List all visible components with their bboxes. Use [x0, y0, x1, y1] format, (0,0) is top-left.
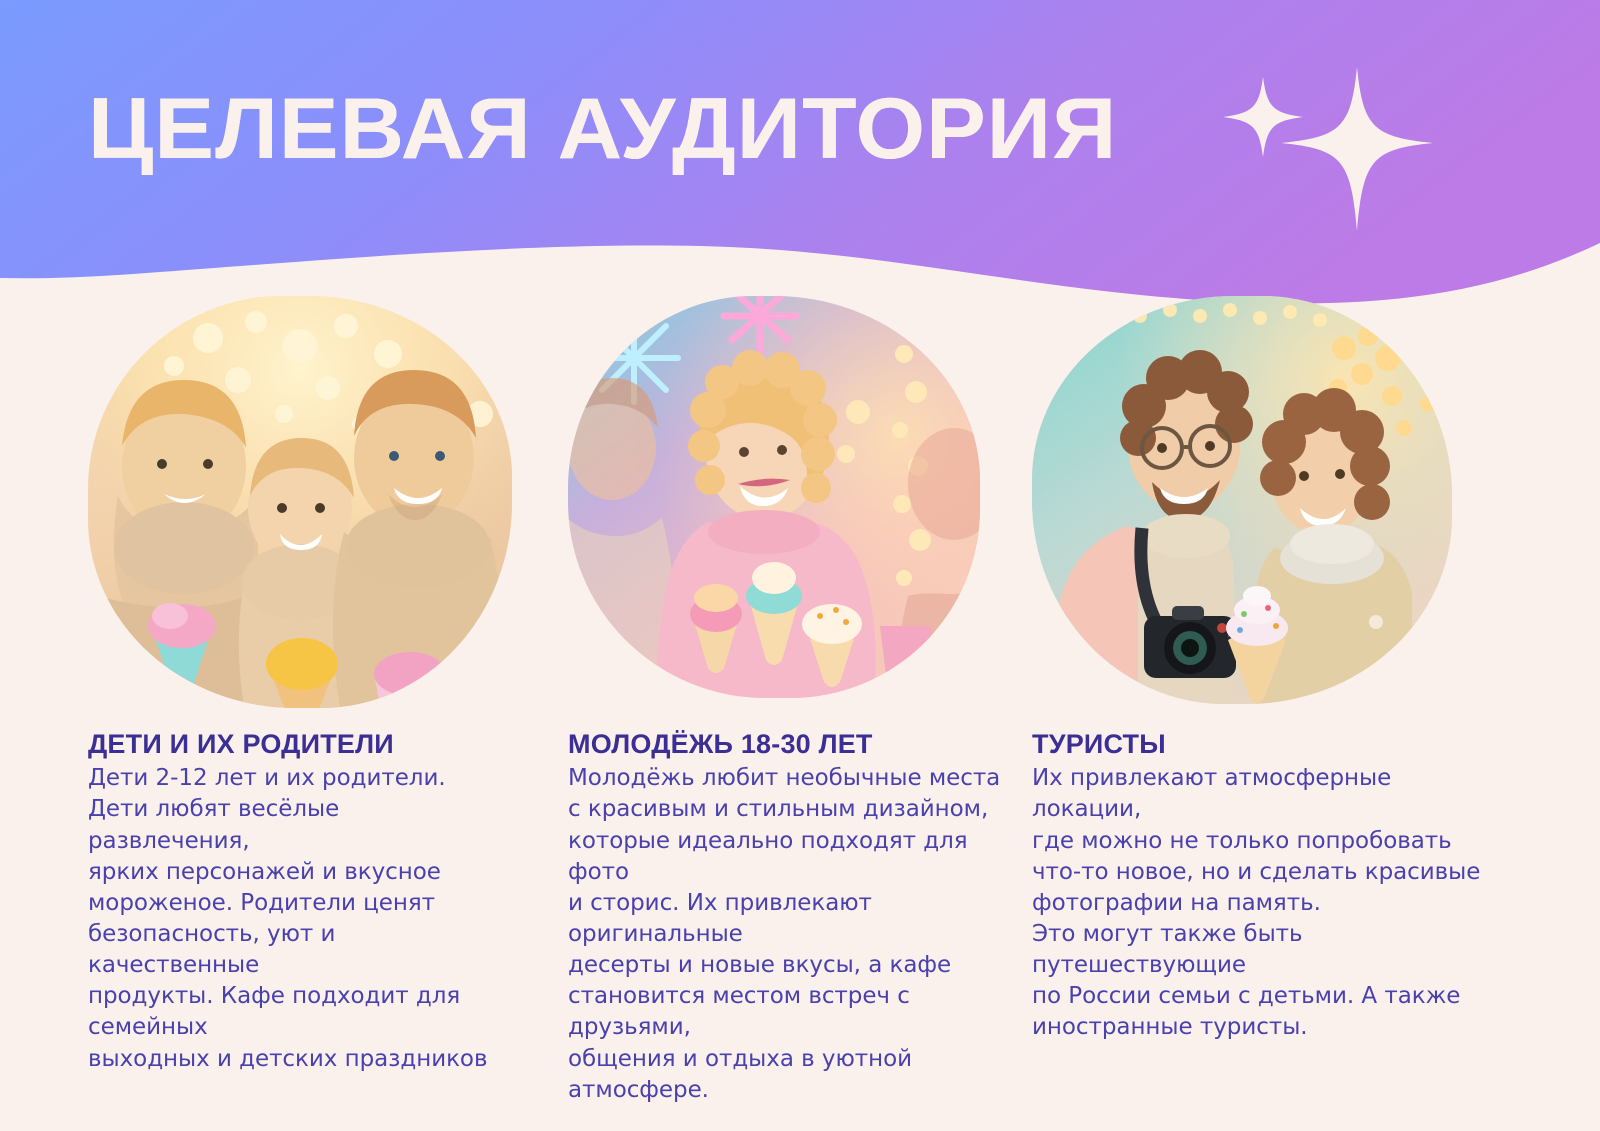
- photo-youth-illustration: [568, 296, 980, 698]
- photo-children-and-parents: [88, 296, 512, 708]
- column-heading-youth: МОЛОДЁЖЬ 18-30 ЛЕТ: [568, 729, 1020, 759]
- camera-icon: [1144, 606, 1236, 678]
- photo-youth: [568, 296, 980, 698]
- column-heading-children: ДЕТИ И ИХ РОДИТЕЛИ: [88, 729, 500, 759]
- photo-children-illustration: [88, 296, 512, 708]
- column-body-children: Дети 2-12 лет и их родители. Дети любят …: [88, 763, 500, 1075]
- text-block-children: ДЕТИ И ИХ РОДИТЕЛИ Дети 2-12 лет и их ро…: [88, 729, 500, 1075]
- column-children: [88, 296, 528, 708]
- column-tourists: [1032, 296, 1472, 704]
- column-body-youth: Молодёжь любит необычные места с красивы…: [568, 763, 1020, 1106]
- column-body-tourists: Их привлекают атмосферные локации, где м…: [1032, 763, 1502, 1043]
- photo-tourists: [1032, 296, 1452, 704]
- column-heading-tourists: ТУРИСТЫ: [1032, 729, 1502, 759]
- slide-root: ЦЕЛЕВАЯ АУДИТОРИЯ: [0, 0, 1600, 1131]
- text-block-tourists: ТУРИСТЫ Их привлекают атмосферные локаци…: [1032, 729, 1502, 1044]
- column-youth: [568, 296, 1008, 698]
- text-block-youth: МОЛОДЁЖЬ 18-30 ЛЕТ Молодёжь любит необыч…: [568, 729, 1020, 1106]
- photo-tourists-illustration: [1032, 296, 1452, 704]
